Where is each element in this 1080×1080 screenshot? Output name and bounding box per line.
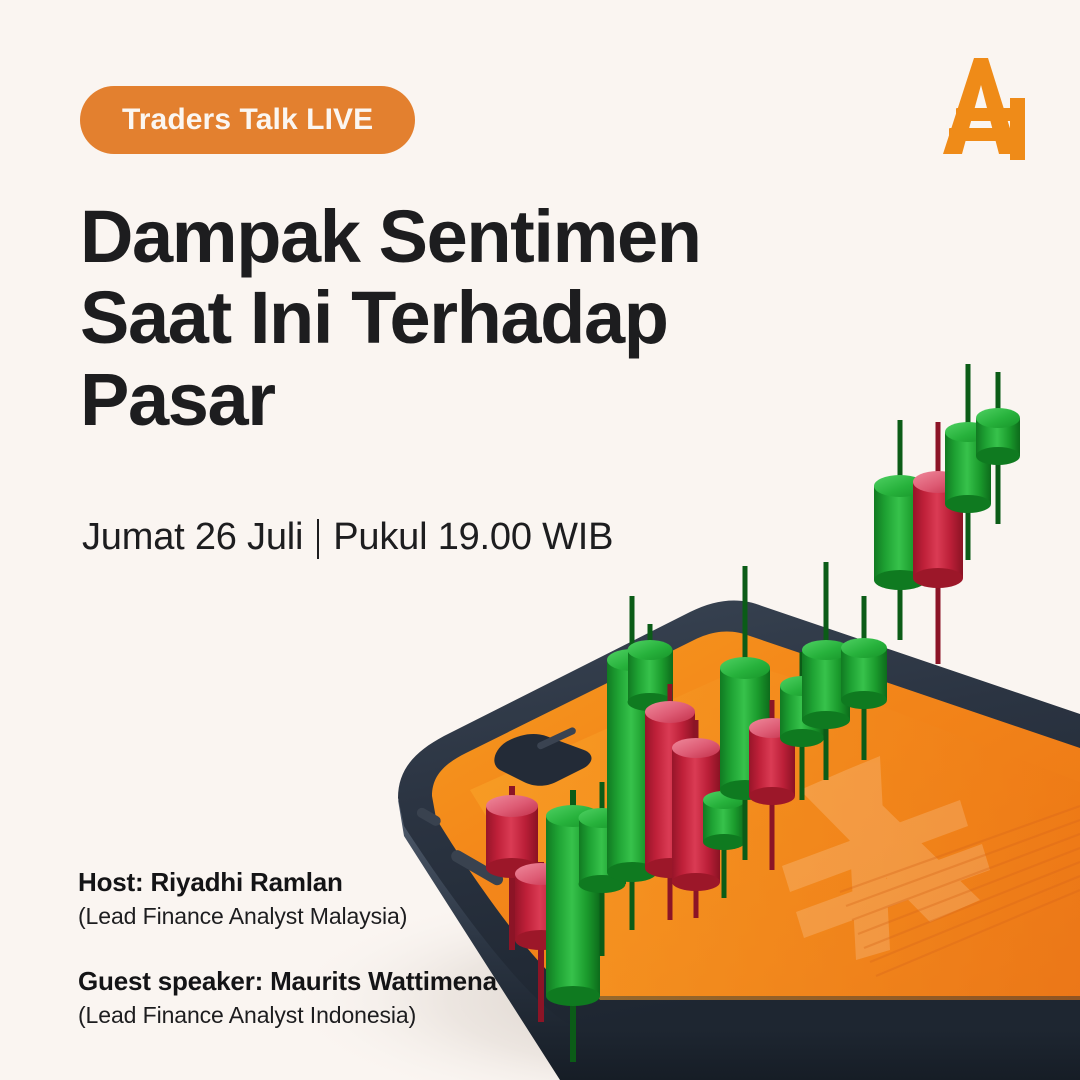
schedule-divider [317, 519, 319, 559]
schedule-date: Jumat 26 Juli [82, 516, 303, 559]
schedule-line: Jumat 26 Juli Pukul 19.00 WIB [82, 516, 613, 559]
page-title: Dampak Sentimen Saat Ini Terhadap Pasar [80, 196, 840, 440]
live-badge: Traders Talk LIVE [80, 86, 415, 154]
headline-line-3: Pasar [80, 359, 840, 440]
host-role: (Lead Finance Analyst Malaysia) [78, 902, 497, 932]
credits-block: Host: Riyadhi Ramlan (Lead Finance Analy… [78, 866, 497, 1031]
headline-line-2: Saat Ini Terhadap [80, 277, 840, 358]
smartphone-mockup [398, 600, 1080, 1080]
host-name: Host: Riyadhi Ramlan [78, 866, 497, 899]
axi-a-logo-icon [928, 52, 1040, 160]
schedule-time: Pukul 19.00 WIB [333, 516, 613, 559]
poster-canvas: Traders Talk LIVE Dampak Sentimen Saat I… [0, 0, 1080, 1080]
credit-host: Host: Riyadhi Ramlan (Lead Finance Analy… [78, 866, 497, 931]
live-badge-label: Traders Talk LIVE [122, 103, 373, 137]
candlestick-series [486, 364, 1020, 1062]
headline-line-1: Dampak Sentimen [80, 196, 840, 277]
credit-guest-speaker: Guest speaker: Maurits Wattimena (Lead F… [78, 965, 497, 1030]
guest-speaker-role: (Lead Finance Analyst Indonesia) [78, 1001, 497, 1031]
guest-speaker-name: Guest speaker: Maurits Wattimena [78, 965, 497, 998]
